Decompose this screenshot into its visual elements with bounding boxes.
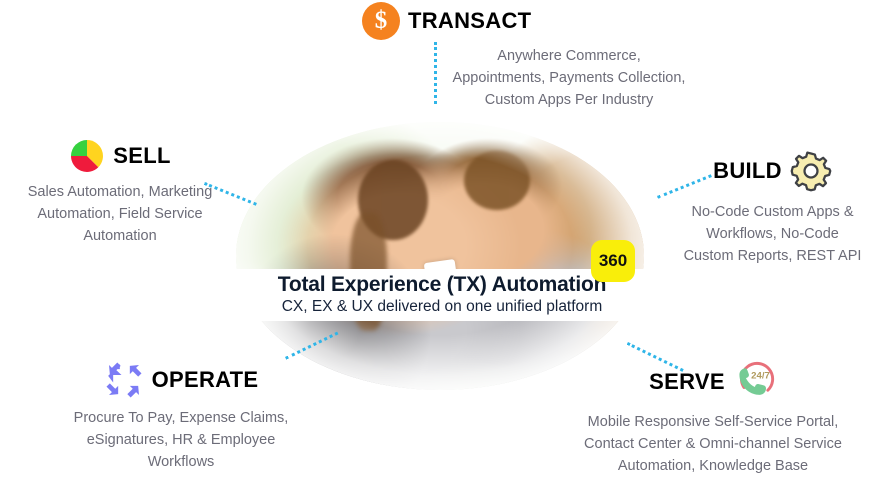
node-operate-body-line: Workflows	[46, 452, 316, 474]
node-transact-body-line: Custom Apps Per Industry	[424, 90, 714, 112]
node-serve[interactable]: SERVE 24/7 Mobile Responsive Self-Servic…	[548, 360, 878, 477]
node-transact-title: TRANSACT	[408, 8, 531, 34]
node-build-body: No-Code Custom Apps & Workflows, No-Code…	[660, 202, 885, 267]
node-serve-body-line: Automation, Knowledge Base	[548, 456, 878, 478]
dollar-circle-icon: $	[362, 2, 400, 40]
node-operate-body-line: eSignatures, HR & Employee	[46, 430, 316, 452]
node-transact-body-line: Anywhere Commerce,	[424, 46, 714, 68]
node-build-body-line: No-Code Custom Apps &	[660, 202, 885, 224]
node-transact-header: $ TRANSACT	[354, 2, 714, 40]
node-sell-body: Sales Automation, Marketing Automation, …	[0, 182, 240, 247]
node-sell-body-line: Sales Automation, Marketing	[0, 182, 240, 204]
node-operate-header: OPERATE	[46, 360, 316, 400]
photo-figure-man-hair	[464, 151, 529, 210]
badge-360: 360	[591, 240, 635, 282]
node-serve-body-line: Contact Center & Omni-channel Service	[548, 434, 878, 456]
support-phone-247-icon: 24/7	[733, 360, 777, 404]
node-serve-body: Mobile Responsive Self-Service Portal, C…	[548, 412, 878, 477]
pie-chart-icon	[69, 138, 105, 174]
node-operate-body-line: Procure To Pay, Expense Claims,	[46, 408, 316, 430]
node-sell-body-line: Automation	[0, 226, 240, 248]
node-sell-title: SELL	[113, 143, 170, 169]
node-sell-body-line: Automation, Field Service	[0, 204, 240, 226]
gear-icon	[790, 150, 832, 192]
node-sell[interactable]: SELL Sales Automation, Marketing Automat…	[0, 138, 240, 247]
center-banner: Total Experience (TX) Automation CX, EX …	[236, 269, 648, 321]
cycle-arrows-icon	[104, 360, 144, 400]
node-build-title: BUILD	[713, 158, 782, 184]
node-serve-title: SERVE	[649, 369, 725, 395]
node-operate-title: OPERATE	[152, 367, 259, 393]
node-transact-body-line: Appointments, Payments Collection,	[424, 68, 714, 90]
page-title: Total Experience (TX) Automation	[278, 274, 606, 296]
node-build[interactable]: BUILD No-Code Custom Apps & Workflows, N…	[660, 150, 885, 267]
node-transact[interactable]: $ TRANSACT Anywhere Commerce, Appointmen…	[354, 2, 714, 111]
infographic-canvas: Total Experience (TX) Automation CX, EX …	[0, 0, 885, 482]
node-build-body-line: Custom Reports, REST API	[660, 246, 885, 268]
node-transact-body: Anywhere Commerce, Appointments, Payment…	[354, 46, 714, 111]
node-sell-header: SELL	[0, 138, 240, 174]
page-subtitle: CX, EX & UX delivered on one unified pla…	[282, 298, 603, 317]
node-serve-header: SERVE 24/7	[548, 360, 878, 404]
node-build-header: BUILD	[660, 150, 885, 192]
node-operate-body: Procure To Pay, Expense Claims, eSignatu…	[46, 408, 316, 473]
node-serve-body-line: Mobile Responsive Self-Service Portal,	[548, 412, 878, 434]
serve-badge-text: 24/7	[751, 370, 770, 381]
node-operate[interactable]: OPERATE Procure To Pay, Expense Claims, …	[46, 360, 316, 473]
node-build-body-line: Workflows, No-Code	[660, 224, 885, 246]
